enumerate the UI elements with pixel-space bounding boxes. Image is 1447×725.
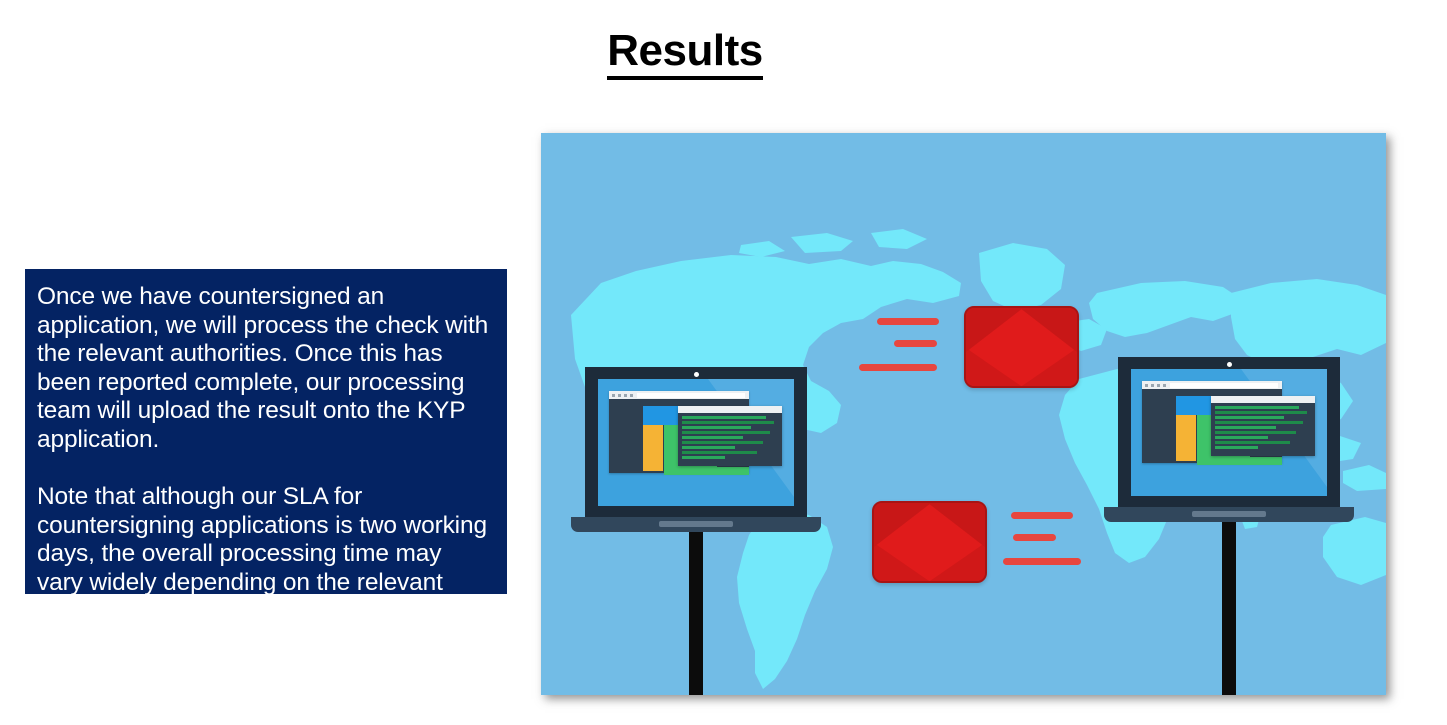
chart-block-green-strip xyxy=(664,467,749,475)
speed-line-bottom-2 xyxy=(1013,534,1056,541)
terminal-titlebar xyxy=(1211,396,1315,403)
laptop-right-base xyxy=(1104,507,1354,522)
webcam-icon xyxy=(1227,362,1232,367)
speed-line-top-1 xyxy=(877,318,939,325)
browser-url-bar xyxy=(637,393,745,398)
envelope-flap-right xyxy=(928,503,985,547)
envelope-flap-left xyxy=(966,308,1023,352)
envelope-fold-right xyxy=(930,543,985,581)
page-title: Results xyxy=(0,28,1370,80)
laptop-right-stand xyxy=(1222,521,1236,695)
envelope-icon-bottom xyxy=(872,501,987,583)
laptop-left-stand xyxy=(689,531,703,695)
laptop-left-touchpad xyxy=(659,521,733,527)
terminal-titlebar xyxy=(678,406,782,413)
browser-url-bar xyxy=(1170,383,1278,388)
speed-line-bottom-1 xyxy=(1011,512,1073,519)
laptop-right xyxy=(1104,357,1354,539)
speed-line-top-2 xyxy=(894,340,937,347)
browser-titlebar xyxy=(609,391,749,399)
info-text-panel: Once we have countersigned an applicatio… xyxy=(25,269,507,594)
chart-block-orange xyxy=(643,425,663,471)
terminal-code-lines xyxy=(682,416,778,461)
terminal-window xyxy=(1211,396,1315,456)
envelope-fold-left xyxy=(966,348,1021,386)
browser-dots-icon xyxy=(612,394,634,397)
laptop-left-lid xyxy=(585,367,807,519)
envelope-fold-left xyxy=(874,543,929,581)
laptop-right-lid xyxy=(1118,357,1340,509)
envelope-fold-right xyxy=(1022,348,1077,386)
speed-line-top-3 xyxy=(859,364,937,371)
chart-block-orange xyxy=(1176,415,1196,461)
laptop-right-touchpad xyxy=(1192,511,1266,517)
laptop-left-screen xyxy=(598,379,794,506)
speed-line-bottom-3 xyxy=(1003,558,1081,565)
laptop-left-base xyxy=(571,517,821,532)
laptop-left xyxy=(571,367,821,549)
terminal-window xyxy=(678,406,782,466)
page-title-text: Results xyxy=(607,28,762,80)
envelope-icon-top xyxy=(964,306,1079,388)
chart-block-green-strip xyxy=(1197,457,1282,465)
browser-dots-icon xyxy=(1145,384,1167,387)
envelope-flap-left xyxy=(874,503,931,547)
illustration-image xyxy=(541,133,1386,695)
browser-titlebar xyxy=(1142,381,1282,389)
terminal-code-lines xyxy=(1215,406,1311,451)
paragraph-process-description: Once we have countersigned an applicatio… xyxy=(37,283,489,454)
paragraph-sla-note: Note that although our SLA for countersi… xyxy=(37,483,489,626)
envelope-flap-right xyxy=(1020,308,1077,352)
laptop-right-screen xyxy=(1131,369,1327,496)
webcam-icon xyxy=(694,372,699,377)
